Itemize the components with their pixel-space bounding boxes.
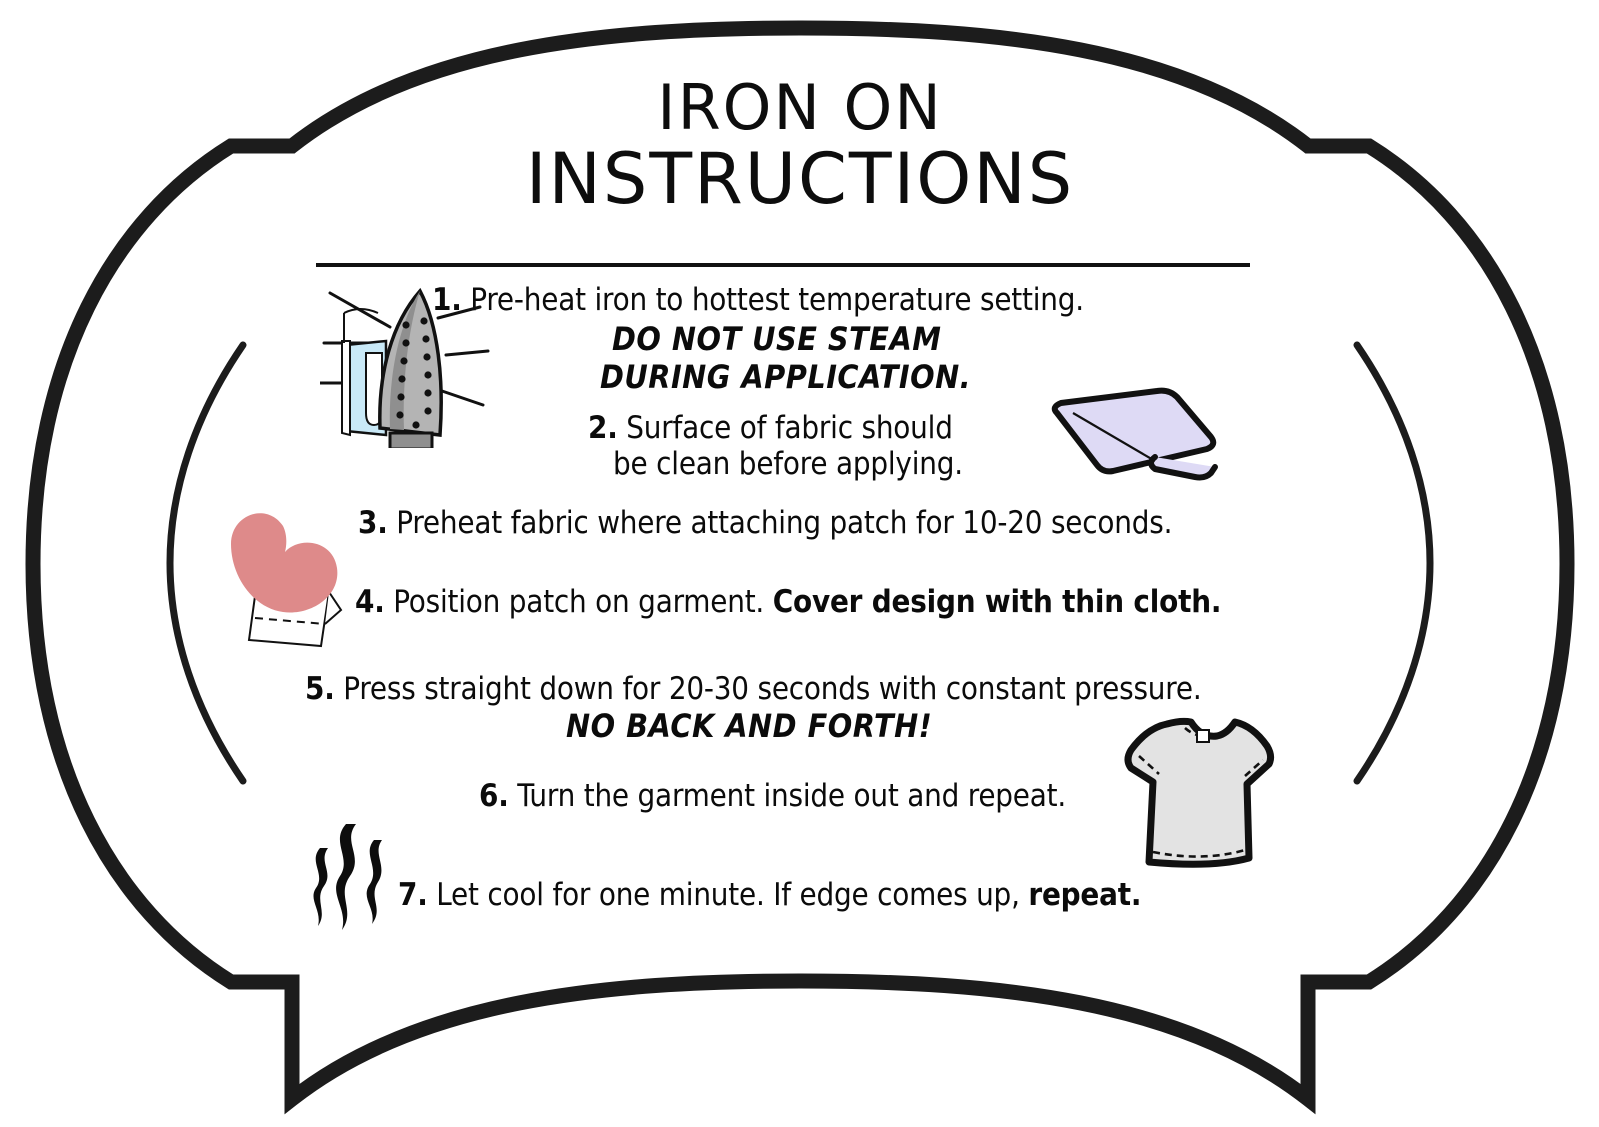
step-6-text: Turn the garment inside out and repeat. (509, 778, 1066, 814)
step-3-line-1: 3. Preheat fabric where attaching patch … (358, 506, 1172, 541)
step-5-line-1: 5. Press straight down for 20-30 seconds… (305, 672, 1201, 707)
steam-wave-right (367, 840, 382, 924)
clothes-iron-icon (320, 283, 500, 448)
fabric-fold-edge (1151, 457, 1215, 478)
step-7-emphasis: repeat. (1028, 877, 1141, 913)
step-7-text: Let cool for one minute. If edge comes u… (428, 877, 1029, 913)
step-1-warning-line-2: DURING APPLICATION. (600, 360, 971, 396)
step-1-text: Pre-heat iron to hottest temperature set… (462, 282, 1084, 318)
step-2-line-2: be clean before applying. (613, 447, 963, 482)
step-5-number: 5. (305, 671, 335, 707)
steam-wave-middle (336, 824, 356, 930)
shirt-tag (1197, 730, 1209, 742)
title-line-instructions: INSTRUCTIONS (300, 145, 1300, 214)
heart-shape (231, 513, 337, 612)
step-2-text: Surface of fabric should (618, 410, 953, 446)
step-6-line-1: 6. Turn the garment inside out and repea… (479, 779, 1066, 814)
step-5-warning: NO BACK AND FORTH! (566, 709, 932, 745)
step-3-number: 3. (358, 505, 388, 541)
step-7-number: 7. (398, 877, 428, 913)
title-divider-rule (316, 263, 1250, 267)
step-6-number: 6. (479, 778, 509, 814)
t-shirt-icon (1105, 712, 1280, 872)
step-2-number: 2. (588, 410, 618, 446)
step-3-text: Preheat fabric where attaching patch for… (388, 505, 1173, 541)
steam-wave-left (313, 848, 328, 926)
iron-heel (390, 433, 432, 448)
step-1-line-1: 1. Pre-heat iron to hottest temperature … (432, 283, 1084, 318)
step-5-text: Press straight down for 20-30 seconds wi… (335, 671, 1202, 707)
step-2-line-1: 2. Surface of fabric should (588, 411, 953, 446)
heart-patch-icon (225, 500, 360, 650)
step-7-line-1: 7. Let cool for one minute. If edge come… (398, 878, 1141, 913)
step-4-line-1: 4. Position patch on garment. Cover desi… (355, 585, 1221, 620)
step-4-emphasis: Cover design with thin cloth. (773, 584, 1222, 620)
step-1-warning-line-1: DO NOT USE STEAM (612, 322, 941, 358)
title-line-iron-on: IRON ON (300, 78, 1300, 139)
page-title: IRON ON INSTRUCTIONS (300, 78, 1300, 213)
step-4-text: Position patch on garment. (385, 584, 773, 620)
folded-fabric-icon (1005, 385, 1220, 490)
fabric-top-face (1055, 391, 1214, 472)
steam-waves-icon (300, 818, 400, 933)
instruction-card: IRON ON INSTRUCTIONS 1. Pre-heat iron to… (0, 0, 1599, 1127)
